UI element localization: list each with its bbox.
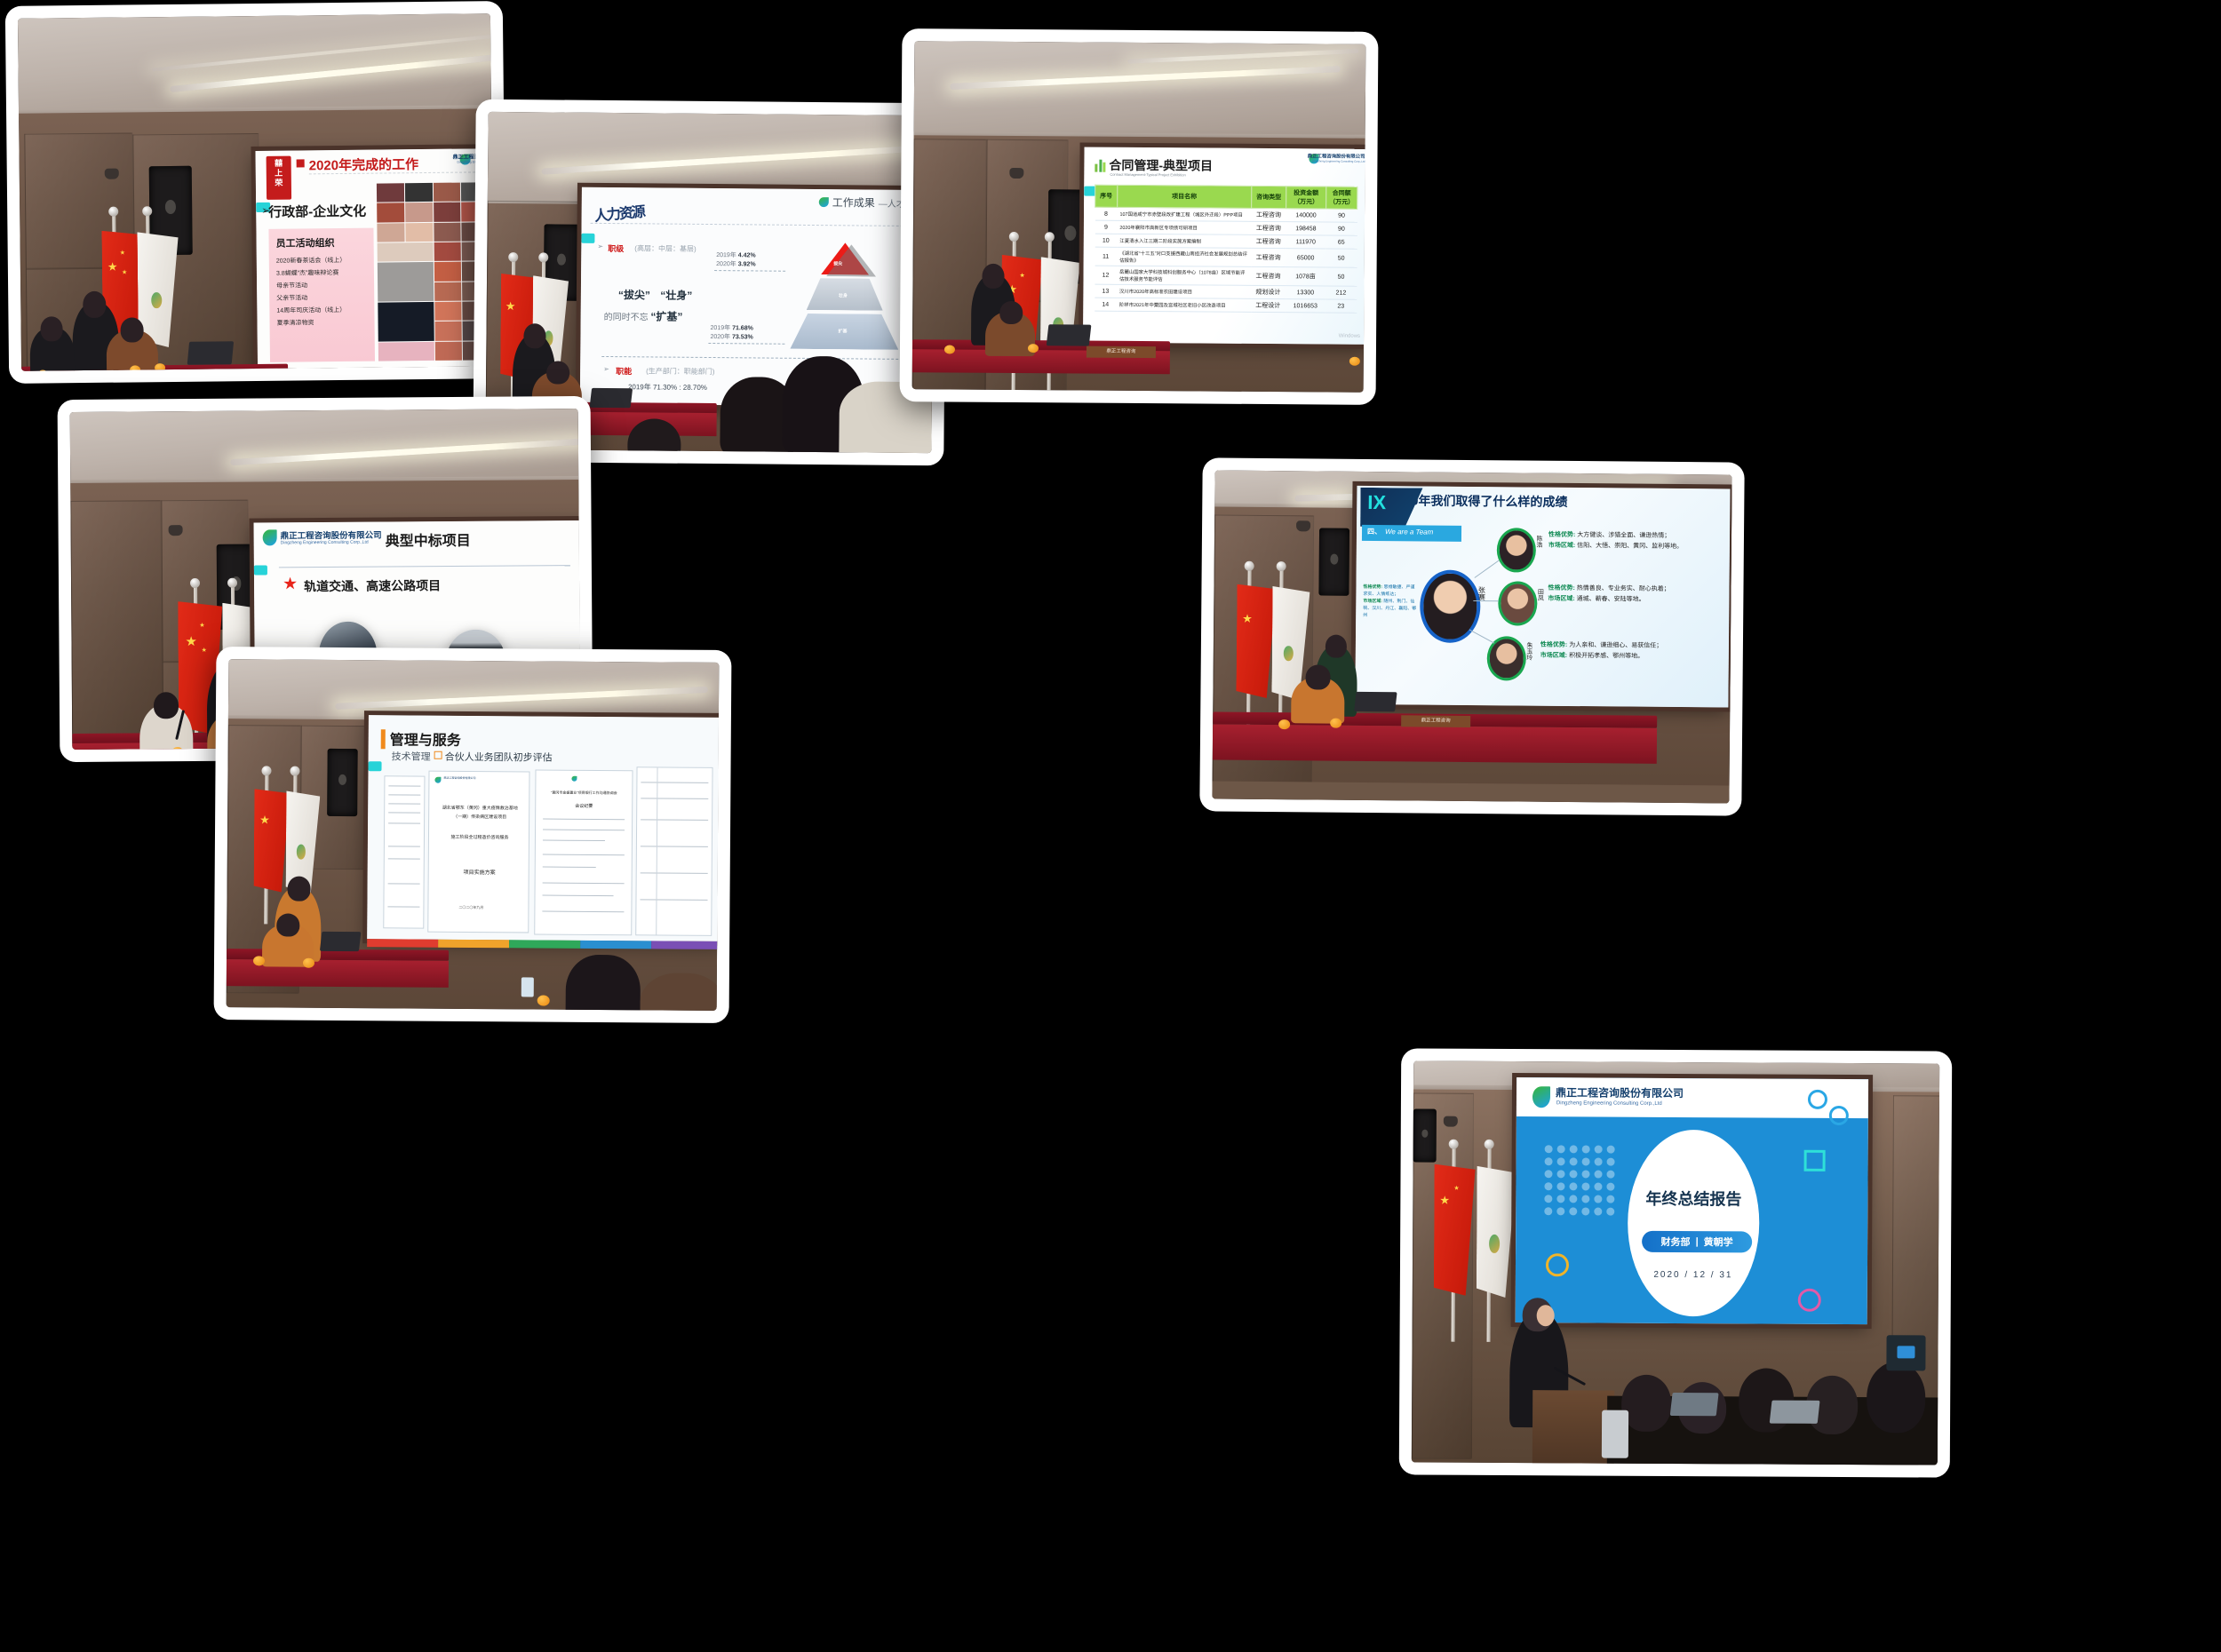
- table-cell: 阶祥市2021年中粟园及宫城社区老旧小区改造项目: [1117, 298, 1251, 312]
- table-row: 14阶祥市2021年中粟园及宫城社区老旧小区改造项目工程设计101665323: [1095, 298, 1357, 313]
- slide-title: 管理与服务: [390, 727, 461, 750]
- avatar: [1497, 528, 1536, 572]
- logo-icon: [1532, 1086, 1550, 1108]
- member-bio: 性格优势: 热情善良、专业务实、耐心执着； 市场区域: 通城、蕲春、安陆等地。: [1548, 584, 1670, 606]
- doc-sub: 会议纪要: [541, 803, 626, 810]
- pyramid-tier-label: 拔尖: [833, 260, 842, 266]
- table-cell: 23: [1325, 299, 1357, 313]
- table-cell: 10: [1095, 234, 1117, 247]
- slide-heading: 行政部-企业文化: [268, 202, 366, 221]
- table-cell: 90: [1325, 209, 1357, 222]
- table-cell: 198458: [1286, 222, 1325, 235]
- section-en: We are a Team: [1385, 528, 1433, 536]
- col-header: 投资金额（万元）: [1286, 187, 1326, 209]
- activity-item: 母亲节活动: [276, 280, 346, 293]
- collage-canvas: ★ ★ ★ 囍上荣 2020年完成的工作 行政部-企业文化 ➢: [0, 0, 2221, 1652]
- decor-ring: [1829, 1106, 1849, 1125]
- doc-line: 湖北省鄂东（黄冈）重大疫情救治基地（一期）传染病区建设项目: [438, 804, 521, 822]
- table-cell: 90: [1325, 222, 1357, 235]
- slide-sub-right: 合伙人业务团队初步评估: [445, 750, 553, 765]
- table-cell: 65000: [1286, 249, 1325, 267]
- presenter-pill: 财务部 | 黄朝学: [1642, 1231, 1752, 1253]
- pyramid-value: 3.92%: [738, 261, 756, 267]
- table-cell: 汉川市2020年高标准农田建设项目: [1117, 284, 1251, 298]
- camera-icon: [105, 169, 119, 179]
- pyramid-tier-label: 扩基: [838, 328, 847, 334]
- presentation-screen: 工作成果 —人才配置 人力资源 职级 ➢ (高层：中层：基层) “拔尖” “壮身…: [580, 187, 930, 407]
- rank-label: 职级: [608, 242, 624, 254]
- table-cell: 工程咨询: [1251, 208, 1286, 221]
- table-cell: 8: [1095, 207, 1117, 220]
- decor-ring: [1808, 1090, 1827, 1109]
- table-cell: 工程咨询: [1251, 248, 1286, 266]
- table-cell: 岳麓山国家大学科技城科创服务中心（1078亩）区域节能评估技术服务节能评估: [1117, 266, 1251, 285]
- center-bio: 性格优势: 思维敏捷、严谨求实、人情练达； 市场区域: 随州、荆门、仙桃、汉川、…: [1363, 584, 1416, 620]
- table-cell: 212: [1325, 286, 1357, 299]
- table-cell: 11: [1095, 247, 1117, 266]
- table-cell: 工程咨询: [1251, 221, 1286, 234]
- project-table: 序号 项目名称 咨询类型 投资金额（万元） 合同额（万元） 8107国道咸宁市赤…: [1094, 185, 1357, 314]
- section-no: 四、: [1367, 527, 1381, 536]
- decor-ring: [1798, 1289, 1821, 1312]
- table-cell: 2020年襄阳市高新区专项债可研项目: [1117, 220, 1251, 234]
- hr-brand-mark: 人力资源: [593, 199, 645, 225]
- bar-chart-icon: [1095, 158, 1105, 172]
- document-thumbnail: [383, 775, 425, 928]
- activity-item: 夏季清凉物资: [276, 317, 346, 330]
- pyramid-value: 71.68%: [732, 325, 753, 331]
- member-bio: 性格优势: 为人亲和、谦逊细心、易获信任； 市场区域: 积极开拓孝感、鄂州等地。: [1540, 640, 1663, 663]
- logo-icon: [819, 197, 829, 207]
- member-name: 田凤: [1535, 589, 1544, 601]
- member-name: 朱玉玲: [1524, 642, 1533, 661]
- department: 财务部: [1661, 1235, 1691, 1249]
- function-label: 职能: [616, 365, 632, 377]
- photo-team[interactable]: ★ 2020年我们取得了什么样的成绩 IX 四、 We are a Team 张…: [1199, 457, 1744, 815]
- section-title: 轨道交通、高速公路项目: [304, 576, 441, 595]
- decor-square: [1804, 1150, 1826, 1171]
- panel-title: 员工活动组织: [276, 235, 335, 250]
- pyramid-value: 4.42%: [738, 252, 756, 258]
- presentation-screen: 鼎正工程咨询股份有限公司 Dingzheng Engineering Consu…: [1516, 1077, 1868, 1324]
- company-name-en: Dingzheng Engineering Consulting Corp.,L…: [281, 540, 369, 546]
- doc-title: “黄冈市金盛置业”项目银行工作沟通协调会: [541, 790, 626, 797]
- decor-dot-grid: [1544, 1145, 1614, 1215]
- table-cell: 工程设计: [1251, 298, 1286, 312]
- table-cell: 工程咨询: [1251, 234, 1286, 248]
- company-name-cn: 鼎正工程咨询股份有限公司: [1556, 1084, 1684, 1100]
- cover-oval: [1628, 1130, 1760, 1317]
- cover-title: 年终总结报告: [1628, 1187, 1759, 1211]
- presentation-screen: 囍上荣 2020年完成的工作 行政部-企业文化 ➢ 员工活动组织 2020新春茶…: [256, 148, 495, 369]
- company-name-en: Dingzheng Engineering Consulting Corp.,L…: [1556, 1100, 1662, 1107]
- activity-item: 14周年司庆活动（线上）: [276, 305, 346, 318]
- col-header: 合同额（万元）: [1326, 187, 1357, 209]
- table-row: 12岳麓山国家大学科技城科创服务中心（1078亩）区域节能评估技术服务节能评估工…: [1095, 266, 1357, 286]
- table-row: 11《湖北省“十三五”对口支援西藏山南经济社会发展规划总结评估报告》工程咨询65…: [1095, 247, 1357, 267]
- document-thumbnail: “黄冈市金盛置业”项目银行工作沟通协调会 会议纪要: [534, 769, 633, 935]
- col-header: 项目名称: [1118, 185, 1252, 208]
- presentation-screen: 2020年我们取得了什么样的成绩 IX 四、 We are a Team 张赛 …: [1355, 486, 1730, 708]
- table-cell: 65: [1325, 235, 1357, 249]
- document-thumbnail: [635, 766, 712, 936]
- table-cell: 14: [1095, 298, 1117, 311]
- table-cell: 107国道咸宁市赤壁段改扩建工程（城区外迁段）PPP项目: [1117, 207, 1251, 221]
- cover-date: 2020 / 12 / 31: [1628, 1270, 1759, 1281]
- table-cell: 13: [1095, 284, 1117, 298]
- activity-item: 3.8蝴蝶“杰”趣味辩论赛: [276, 267, 346, 281]
- avatar: [1498, 581, 1537, 625]
- function-note: (生产部门：职能部门): [646, 366, 714, 377]
- slogan-d: “扩基”: [650, 310, 682, 322]
- slogan-b: “壮身”: [660, 290, 692, 302]
- star-icon: ★: [283, 574, 298, 594]
- slide-sub-left: 技术管理: [392, 749, 431, 763]
- pill-divider: |: [1696, 1236, 1699, 1247]
- table-cell: 工程咨询: [1251, 266, 1286, 285]
- avatar: [1420, 569, 1481, 643]
- presentation-screen: 合同管理-典型项目 Contract Management-Typical Pr…: [1083, 147, 1365, 345]
- photo-admin-culture[interactable]: ★ ★ ★ 囍上荣 2020年完成的工作 行政部-企业文化 ➢: [5, 1, 506, 384]
- col-header: 咨询类型: [1252, 186, 1286, 208]
- slide-kicker: 2020年完成的工作: [309, 155, 419, 174]
- photo-management-service[interactable]: ★ 管理与服务 技术管理 合伙人业务团队初步评估: [214, 647, 732, 1023]
- table-cell: 江夏清水入江三期二阶段实施方案编制: [1117, 234, 1251, 248]
- col-header: 序号: [1095, 185, 1118, 207]
- table-cell: 1016653: [1286, 299, 1325, 313]
- table-cell: 111970: [1286, 235, 1325, 249]
- slide-header-title: 工作成果: [832, 195, 875, 210]
- logo-icon: [263, 529, 277, 545]
- company-name-en: Dingzheng Engineering Consulting Corp.,L…: [1312, 159, 1365, 163]
- rank-note: (高层：中层：基层): [634, 243, 696, 254]
- document-thumbnail: 鼎正工程咨询股份有限公司 湖北省鄂东（黄冈）重大疫情救治基地（一期）传染病区建设…: [427, 771, 529, 933]
- table-cell: 9: [1095, 220, 1117, 234]
- activity-item: 父亲节活动: [276, 292, 346, 306]
- doc-line: 施工阶段全过程造价咨询服务: [438, 834, 521, 841]
- table-cell: 13300: [1286, 286, 1325, 299]
- photo-cover-report[interactable]: ★ ★ 鼎正工程咨询股份有限公司 Dingzheng Engineering C…: [1399, 1048, 1953, 1477]
- table-cell: 50: [1325, 267, 1357, 286]
- presenter: 黄朝学: [1704, 1235, 1733, 1249]
- table-cell: 《湖北省“十三五”对口支援西藏山南经济社会发展规划总结评估报告》: [1117, 247, 1251, 266]
- table-cell: 140000: [1286, 209, 1325, 222]
- slogan-c: 的同时不忘: [604, 313, 649, 322]
- presentation-screen: 管理与服务 技术管理 合伙人业务团队初步评估: [367, 715, 719, 941]
- slide-title-en: Contract Management-Typical Project Exhi…: [1110, 172, 1185, 178]
- photo-contract-table[interactable]: ★ ★ 合同管理-典型项目 Contract Management-Typica…: [900, 28, 1379, 405]
- pyramid-value: 73.53%: [732, 334, 753, 340]
- decor-ring: [1546, 1253, 1569, 1276]
- center-name: 张赛: [1477, 586, 1486, 600]
- pyramid-tier-label: 壮身: [839, 292, 848, 298]
- pyramid-chart: 拔尖 壮身 扩基: [786, 242, 903, 359]
- slogan-a: “拔尖”: [618, 289, 650, 301]
- table-cell: 1078亩: [1286, 267, 1325, 286]
- table-cell: 50: [1325, 249, 1357, 267]
- slide-title: 典型中标项目: [386, 528, 471, 551]
- table-cell: 12: [1095, 266, 1117, 284]
- doc-line: 项目实施方案: [438, 868, 521, 877]
- activity-item: 2020新春茶话会（线上）: [276, 255, 346, 268]
- member-bio: 性格优势: 大方健谈、涉猎全面、谦逊热情； 市场区域: 信阳、大悟、崇阳、黄冈、…: [1548, 530, 1684, 552]
- table-cell: 规划设计: [1251, 285, 1286, 298]
- member-name: 陈浩: [1534, 536, 1543, 548]
